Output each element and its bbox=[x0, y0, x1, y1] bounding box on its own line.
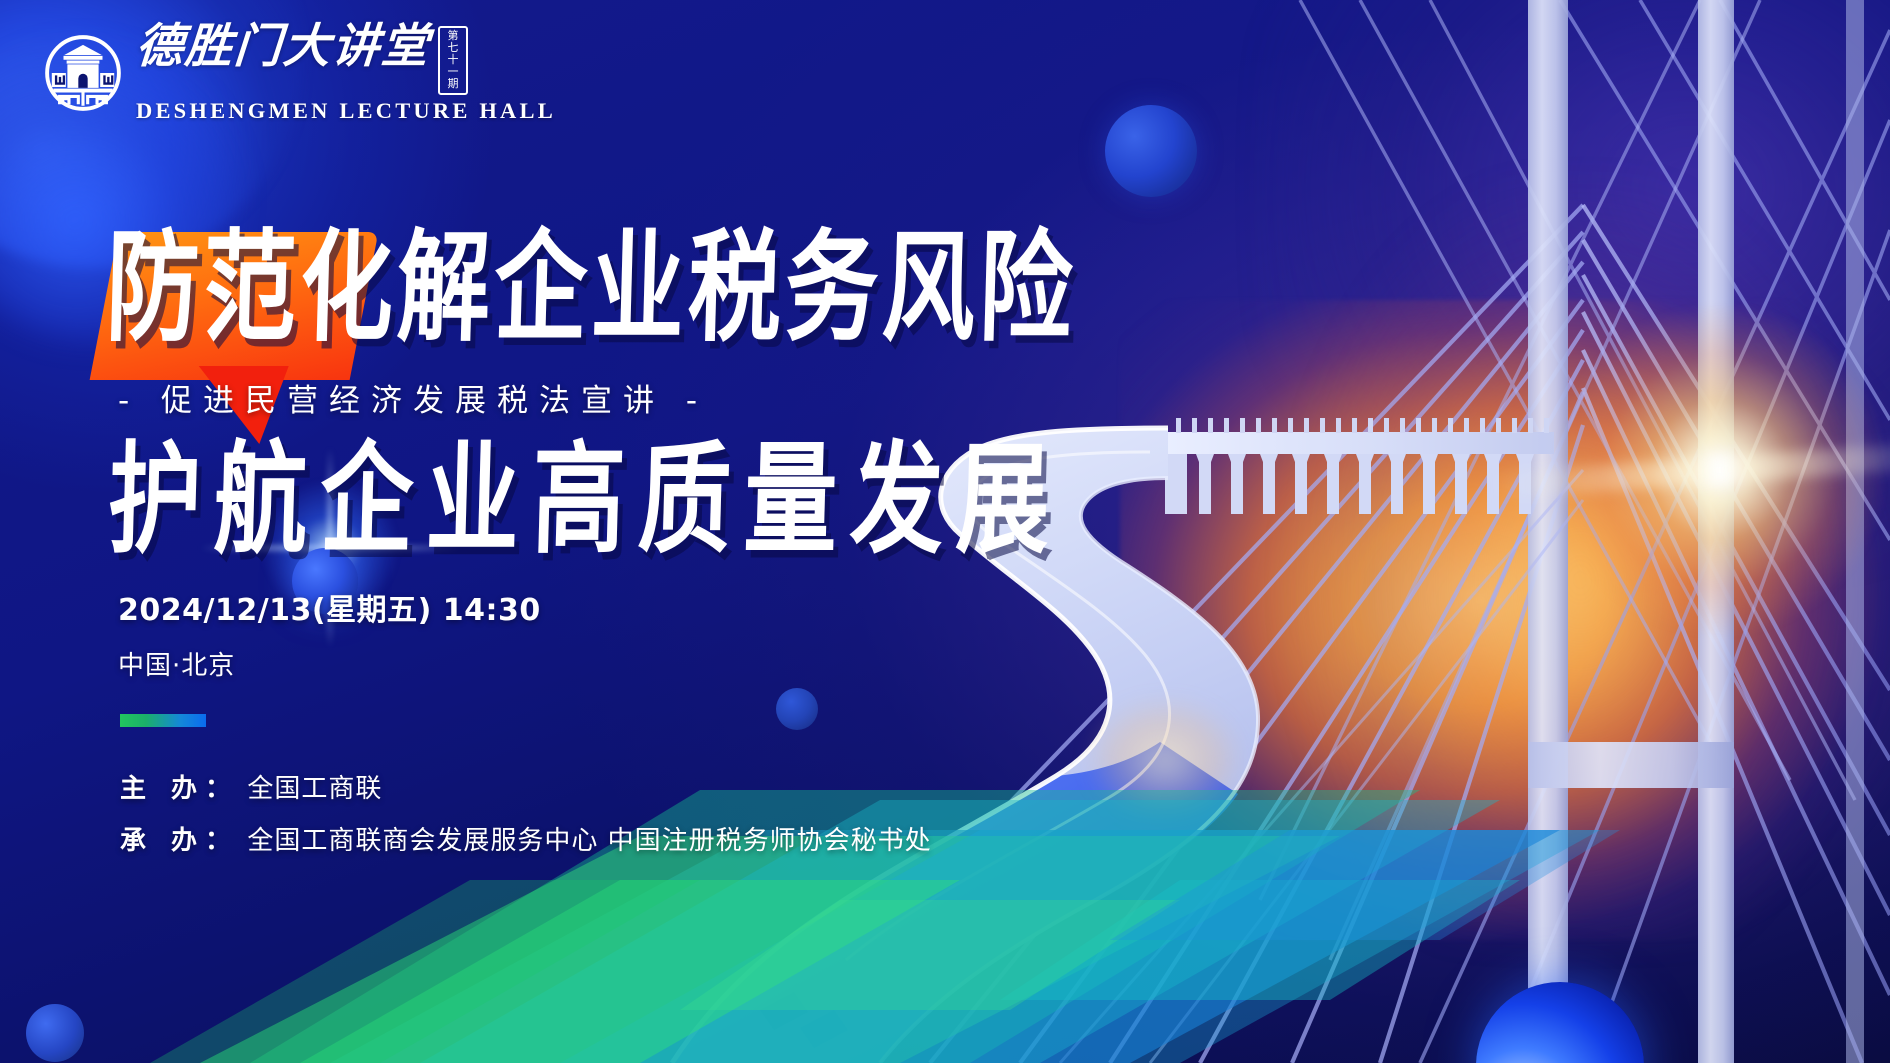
title-main-line1: 防范化解企业税务风险 bbox=[105, 224, 1078, 352]
organizer-row-host: 主 办： 全国工商联 bbox=[120, 768, 382, 805]
title-main-line2: 护航企业高质量发展 bbox=[107, 436, 1064, 564]
organizer-value-host: 全国工商联 bbox=[247, 774, 382, 804]
organizer-label-coorg: 承 办： bbox=[120, 826, 239, 856]
organizer-row-coorg: 承 办： 全国工商联商会发展服务中心 中国注册税务师协会秘书处 bbox=[120, 820, 932, 857]
event-location: 中国·北京 bbox=[118, 645, 235, 682]
poster-canvas: 德胜门大讲堂 第 七 十 一 期 DESHENGMEN LECTURE HALL… bbox=[0, 0, 1890, 1063]
organizer-label-host: 主 办： bbox=[120, 774, 239, 804]
organizer-value-coorg: 全国工商联商会发展服务中心 中国注册税务师协会秘书处 bbox=[247, 826, 931, 856]
title-subtitle: - 促进民营经济发展税法宣讲 - bbox=[118, 375, 708, 420]
gradient-divider bbox=[120, 714, 206, 727]
content-block: 防范化解企业税务风险 - 促进民营经济发展税法宣讲 - 护航企业高质量发展 20… bbox=[0, 0, 1890, 1063]
event-datetime: 2024/12/13(星期五) 14:30 bbox=[118, 585, 541, 629]
